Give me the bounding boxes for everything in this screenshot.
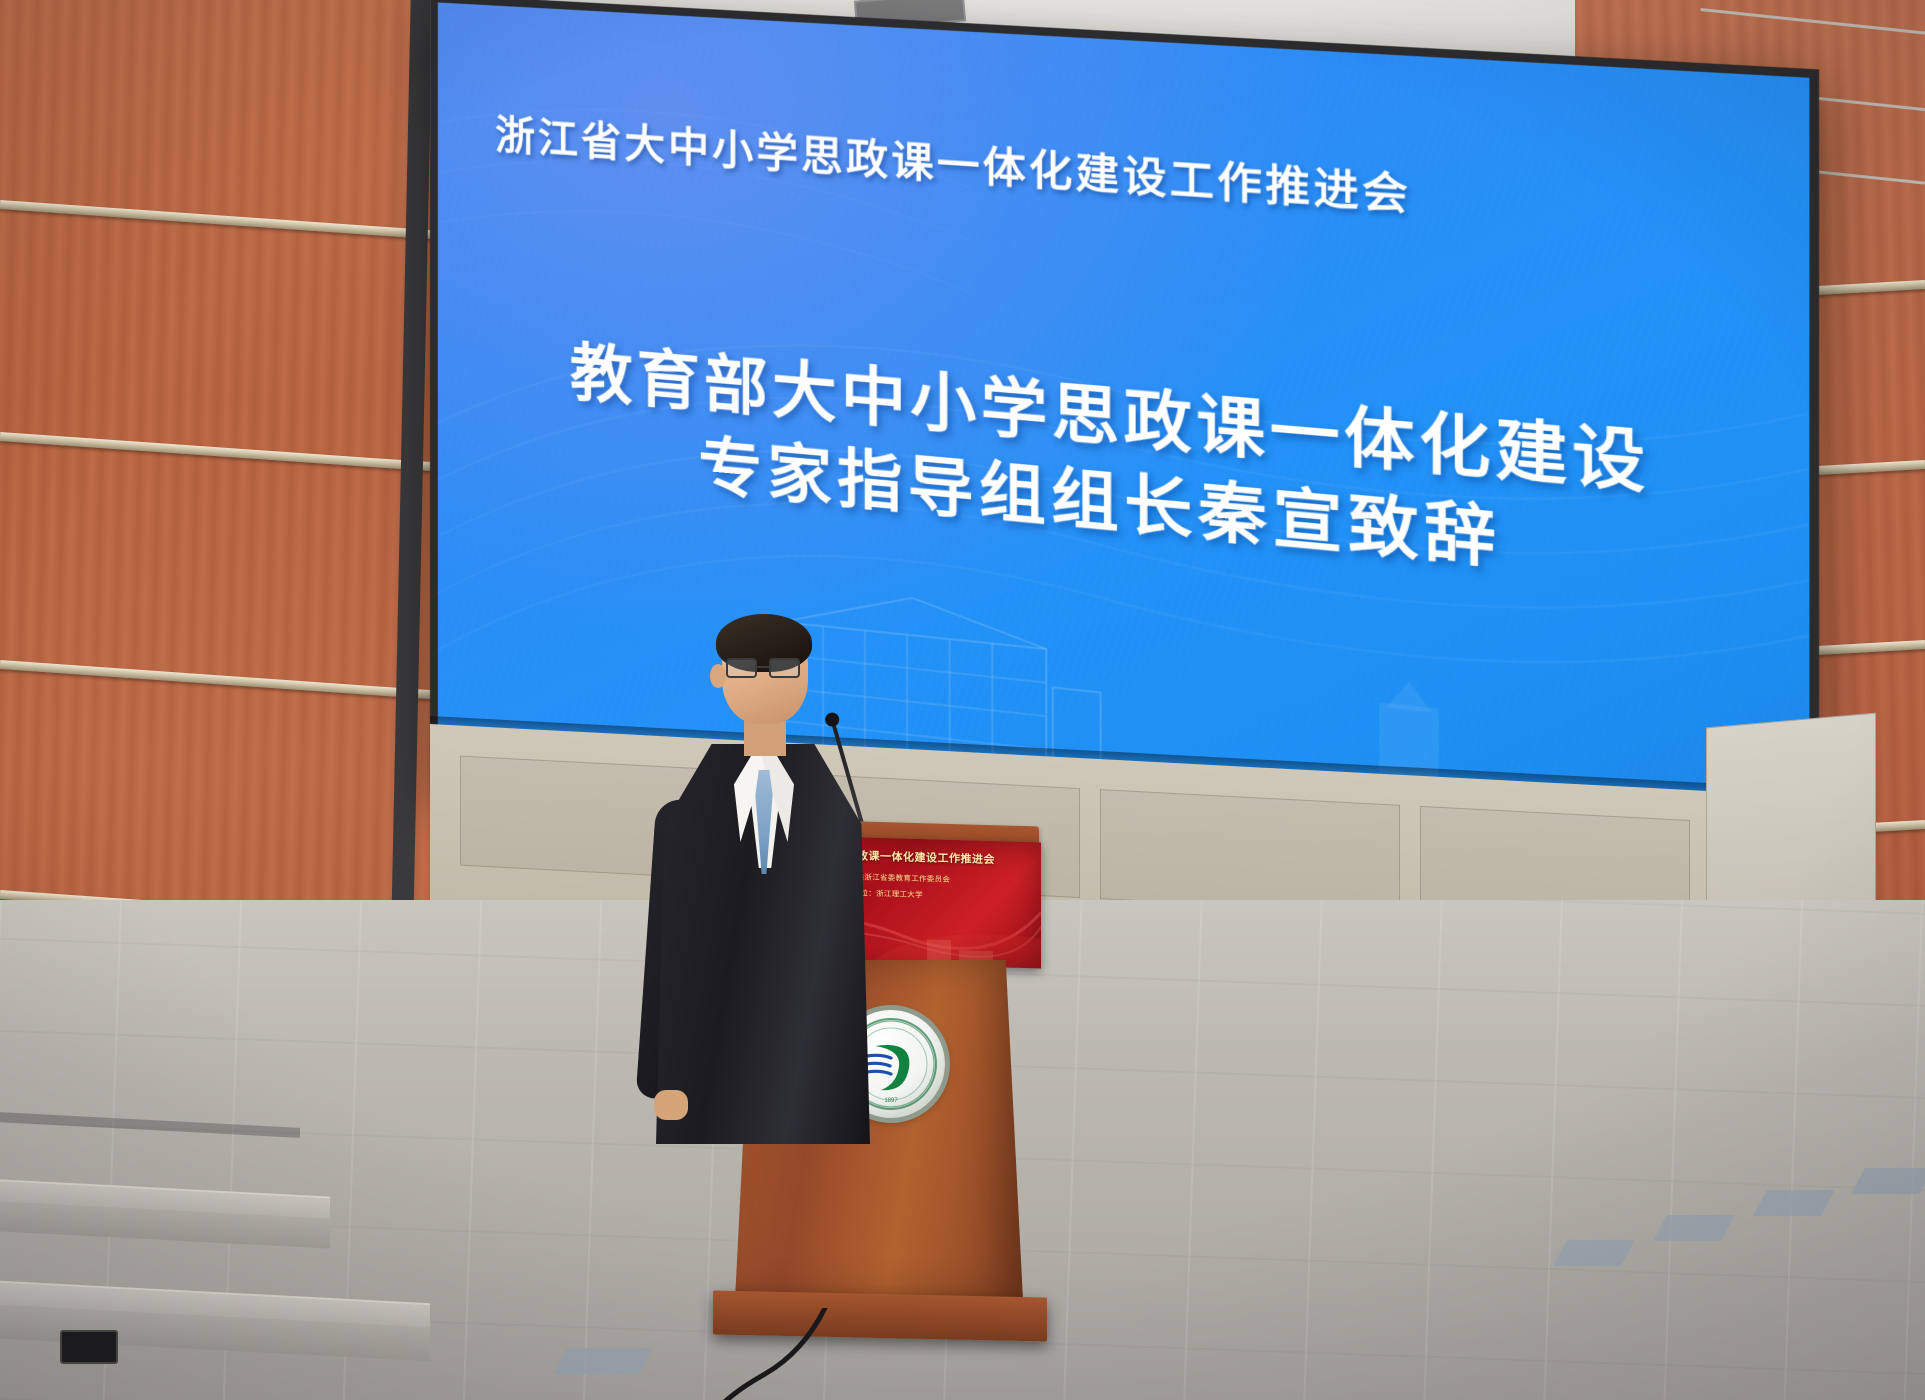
eyeglass-bridge — [757, 666, 769, 668]
speaker-person — [648, 620, 878, 1320]
floor-cable — [707, 1308, 837, 1400]
floor-marker — [1653, 1215, 1735, 1241]
speaker-hand — [654, 1090, 688, 1120]
conference-photo-scene: 浙江省大中小学思政课一体化建设工作推进会 教育部大中小学思政课一体化建设 专家指… — [0, 0, 1925, 1400]
led-header-text: 浙江省大中小学思政课一体化建设工作推进会 — [495, 102, 1434, 224]
eyeglass-lens — [769, 658, 800, 678]
skirt-panel — [1100, 789, 1400, 915]
speaker-ear — [710, 664, 726, 688]
floor-marker — [1753, 1190, 1835, 1216]
floor-marker — [1851, 1168, 1925, 1194]
floor-marker — [553, 1348, 653, 1374]
eyeglasses-icon — [726, 658, 806, 680]
floor-marker — [1553, 1240, 1635, 1266]
svg-text:1897: 1897 — [884, 1098, 898, 1104]
power-outlet — [60, 1330, 118, 1364]
led-main-title: 教育部大中小学思政课一体化建设 专家指导组组长秦宣致辞 — [438, 323, 1810, 613]
eyeglass-lens — [726, 658, 757, 678]
